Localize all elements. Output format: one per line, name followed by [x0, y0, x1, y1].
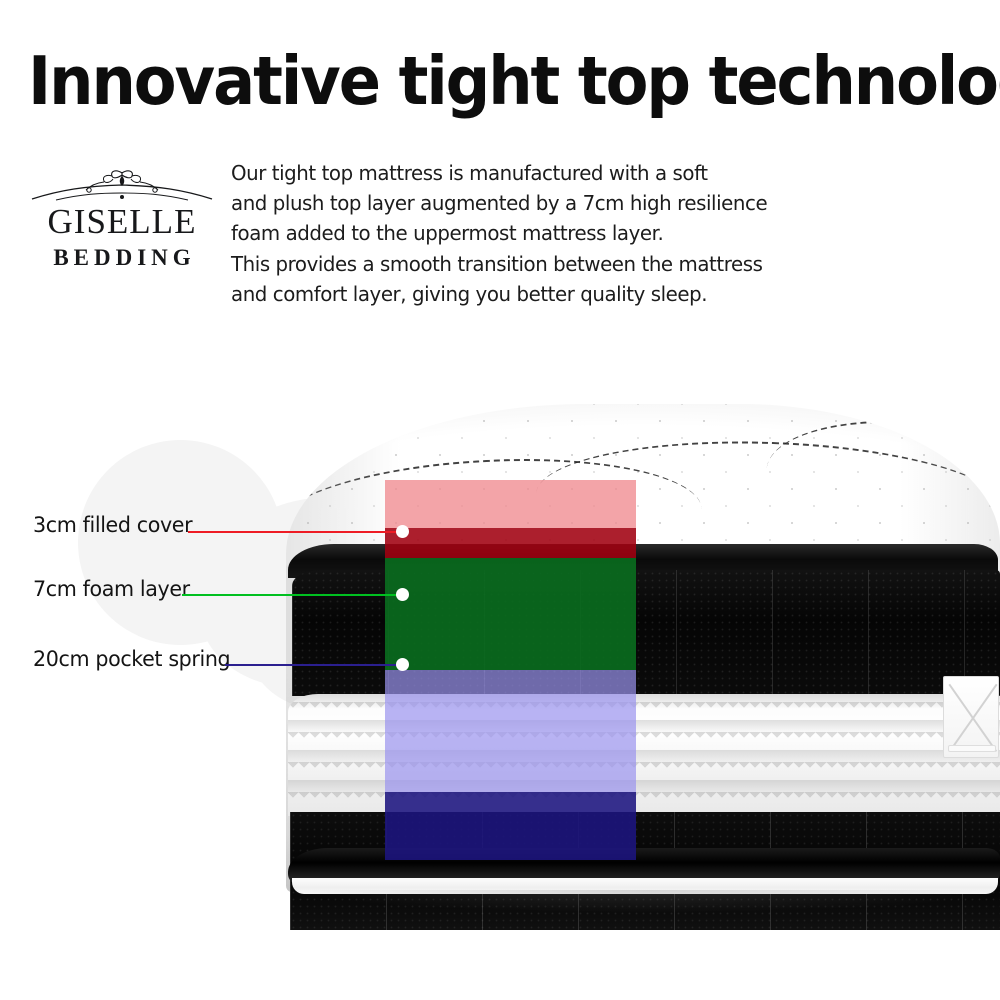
product-description: Our tight top mattress is manufactured w…: [231, 158, 761, 309]
callout-label-2: 20cm pocket spring: [33, 647, 230, 672]
callout-endpoint-dot-1: [396, 588, 409, 601]
mattress-illustration: [286, 404, 1000, 892]
callout-label-1: 7cm foam layer: [33, 577, 190, 602]
description-line-1: Our tight top mattress is manufactured w…: [231, 158, 742, 188]
brand-name: GISELLE: [26, 204, 218, 239]
pocket-spring-zigzag-band: [288, 694, 1000, 816]
callout-endpoint-dot-0: [396, 525, 409, 538]
callout-leader-line-0: [188, 531, 403, 533]
description-line-2: and plush top layer augmented by a 7cm h…: [231, 188, 742, 218]
callout-label-0: 3cm filled cover: [33, 513, 192, 538]
brand-logo: GISELLE BEDDING: [26, 166, 218, 288]
callout-endpoint-dot-2: [396, 658, 409, 671]
floor-shadow: [304, 890, 994, 912]
description-line-5: and comfort layer, giving you better qua…: [231, 279, 742, 309]
description-line-3: foam added to the uppermost mattress lay…: [231, 218, 742, 248]
brand-tagline: BEDDING: [26, 246, 218, 269]
description-line-4: This provides a smooth transition betwee…: [231, 249, 742, 279]
callout-leader-line-1: [182, 594, 403, 596]
carry-handle: [943, 676, 999, 758]
page-title: Innovative tight top technology: [28, 48, 912, 115]
callout-leader-line-2: [225, 664, 403, 666]
